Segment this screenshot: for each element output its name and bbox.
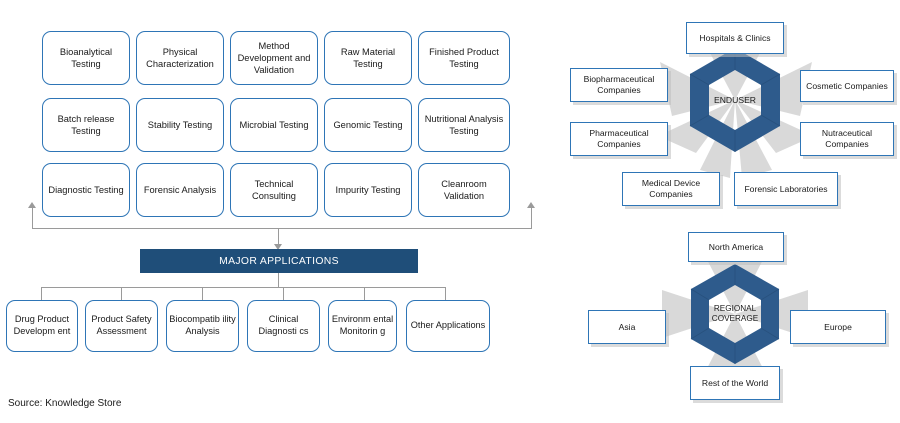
- enduser-node-medical-device-companies[interactable]: Medical Device Companies: [622, 172, 720, 206]
- bracket-left-arrow-icon: [28, 202, 36, 208]
- node-label: Europe: [824, 322, 852, 333]
- tree-branch: [121, 287, 122, 300]
- tree-branch: [202, 287, 203, 300]
- application-box-label: Biocompatib ility Analysis: [169, 314, 236, 337]
- service-box[interactable]: Bioanalytical Testing: [42, 31, 130, 85]
- application-box[interactable]: Biocompatib ility Analysis: [166, 300, 239, 352]
- service-box-label: Finished Product Testing: [422, 46, 506, 70]
- service-box-label: Method Development and Validation: [234, 40, 314, 76]
- service-box[interactable]: Cleanroom Validation: [418, 163, 510, 217]
- service-box[interactable]: Forensic Analysis: [136, 163, 224, 217]
- application-box[interactable]: Environm ental Monitorin g: [328, 300, 397, 352]
- enduser-node-nutraceutical-companies[interactable]: Nutraceutical Companies: [800, 122, 894, 156]
- enduser-node-hospitals-clinics[interactable]: Hospitals & Clinics: [686, 22, 784, 54]
- application-box[interactable]: Product Safety Assessment: [85, 300, 158, 352]
- service-box[interactable]: Stability Testing: [136, 98, 224, 152]
- node-label: Hospitals & Clinics: [699, 33, 770, 44]
- service-box-label: Physical Characterization: [140, 46, 220, 70]
- application-box-label: Clinical Diagnosti cs: [250, 314, 317, 337]
- service-box[interactable]: Physical Characterization: [136, 31, 224, 85]
- service-box[interactable]: Impurity Testing: [324, 163, 412, 217]
- node-label: Rest of the World: [702, 378, 768, 389]
- service-box[interactable]: Microbial Testing: [230, 98, 318, 152]
- major-applications-banner[interactable]: MAJOR APPLICATIONS: [140, 249, 418, 273]
- service-box-label: Raw Material Testing: [328, 46, 408, 70]
- service-box[interactable]: Finished Product Testing: [418, 31, 510, 85]
- service-box[interactable]: Technical Consulting: [230, 163, 318, 217]
- regional-node-north-america[interactable]: North America: [688, 232, 784, 262]
- service-box-label: Forensic Analysis: [144, 184, 216, 196]
- regional-node-asia[interactable]: Asia: [588, 310, 666, 344]
- application-box-label: Environm ental Monitorin g: [331, 314, 394, 337]
- application-box-label: Other Applications: [409, 320, 487, 332]
- tree-trunk: [278, 273, 279, 287]
- service-box[interactable]: Nutritional Analysis Testing: [418, 98, 510, 152]
- node-label: Biopharmaceutical Companies: [573, 74, 665, 96]
- node-label: Pharmaceutical Companies: [573, 128, 665, 150]
- service-box-label: Batch release Testing: [46, 113, 126, 137]
- service-box-label: Impurity Testing: [336, 184, 401, 196]
- application-box-label: Drug Product Developm ent: [9, 314, 75, 337]
- service-box-label: Bioanalytical Testing: [46, 46, 126, 70]
- service-box[interactable]: Genomic Testing: [324, 98, 412, 152]
- tree-rail: [41, 287, 445, 288]
- major-applications-label: MAJOR APPLICATIONS: [219, 256, 339, 267]
- enduser-node-biopharmaceutical-companies[interactable]: Biopharmaceutical Companies: [570, 68, 668, 102]
- service-box-label: Stability Testing: [148, 119, 212, 131]
- service-box-label: Technical Consulting: [234, 178, 314, 202]
- bracket-right-riser: [531, 208, 532, 228]
- regional-node-rest-of-the-world[interactable]: Rest of the World: [690, 366, 780, 400]
- node-label: North America: [709, 242, 763, 253]
- application-box-label: Product Safety Assessment: [88, 314, 155, 337]
- service-box-label: Diagnostic Testing: [48, 184, 123, 196]
- tree-branch: [445, 287, 446, 300]
- enduser-node-pharmaceutical-companies[interactable]: Pharmaceutical Companies: [570, 122, 668, 156]
- node-label: Forensic Laboratories: [744, 184, 827, 195]
- infographic-canvas: Bioanalytical Testing Physical Character…: [0, 0, 900, 423]
- service-box-label: Nutritional Analysis Testing: [422, 113, 506, 137]
- service-box-label: Genomic Testing: [333, 119, 402, 131]
- bracket-left-riser: [32, 208, 33, 228]
- node-label: Cosmetic Companies: [806, 81, 888, 92]
- service-box[interactable]: Batch release Testing: [42, 98, 130, 152]
- node-label: Asia: [619, 322, 636, 333]
- tree-branch: [364, 287, 365, 300]
- service-box[interactable]: Raw Material Testing: [324, 31, 412, 85]
- node-label: Medical Device Companies: [625, 178, 717, 200]
- bracket-right-arrow-icon: [527, 202, 535, 208]
- source-caption: Source: Knowledge Store: [8, 398, 121, 409]
- enduser-node-forensic-laboratories[interactable]: Forensic Laboratories: [734, 172, 838, 206]
- application-box[interactable]: Clinical Diagnosti cs: [247, 300, 320, 352]
- service-box-label: Cleanroom Validation: [422, 178, 506, 202]
- bracket-center-drop: [278, 228, 279, 245]
- service-box-label: Microbial Testing: [239, 119, 308, 131]
- service-box[interactable]: Diagnostic Testing: [42, 163, 130, 217]
- tree-branch: [41, 287, 42, 300]
- application-box[interactable]: Drug Product Developm ent: [6, 300, 78, 352]
- service-box[interactable]: Method Development and Validation: [230, 31, 318, 85]
- bracket-horizontal-line: [32, 228, 532, 229]
- application-box[interactable]: Other Applications: [406, 300, 490, 352]
- tree-branch: [283, 287, 284, 300]
- node-label: Nutraceutical Companies: [803, 128, 891, 150]
- enduser-node-cosmetic-companies[interactable]: Cosmetic Companies: [800, 70, 894, 102]
- regional-node-europe[interactable]: Europe: [790, 310, 886, 344]
